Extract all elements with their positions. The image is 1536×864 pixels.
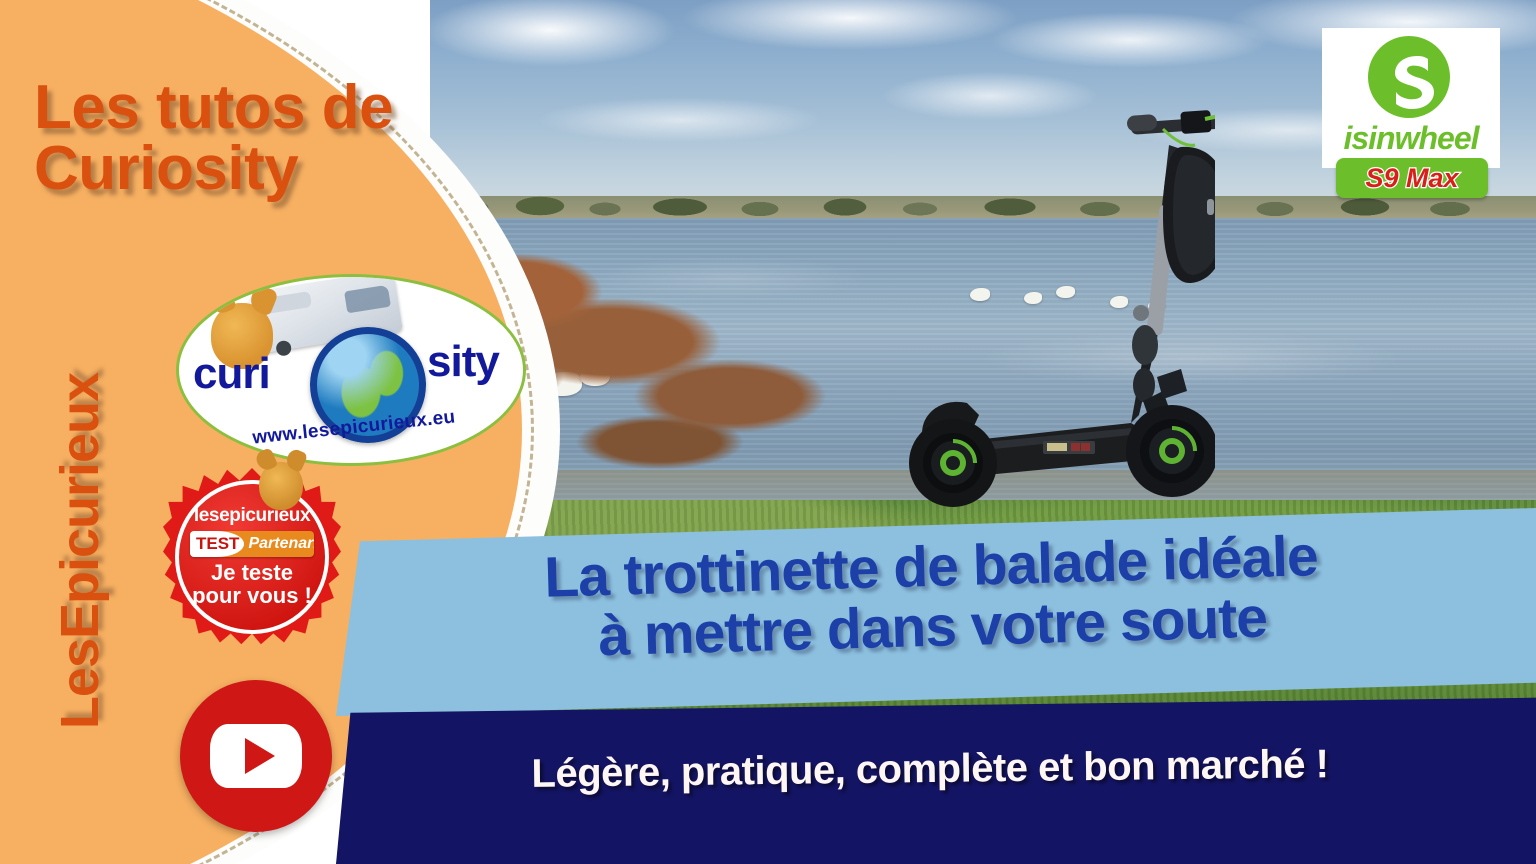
badge-slogan-line1: Je teste	[192, 562, 312, 584]
test-partner-badge: lesepicurieux TEST Partenariat Je teste …	[163, 468, 341, 646]
curiosity-logo-text-right: sity	[427, 337, 499, 387]
isinwheel-brand-name: isinwheel	[1322, 120, 1500, 157]
isinwheel-model-text: S9 Max	[1365, 163, 1458, 194]
play-triangle-icon	[245, 738, 275, 774]
isinwheel-mark-icon	[1366, 34, 1452, 120]
badge-slogan-line2: pour vous !	[192, 585, 312, 607]
badge-test-strip: TEST Partenariat	[190, 531, 314, 557]
thumbnail-canvas: Les tutos de Curiosity LesEpicurieux cur…	[0, 0, 1536, 864]
moose-mascot-icon	[259, 462, 303, 510]
channel-title: Les tutos de Curiosity	[34, 78, 464, 200]
vertical-brand-text: LesEpicurieux	[49, 271, 111, 831]
youtube-subscribe-button[interactable]	[180, 680, 332, 832]
channel-title-line1: Les tutos de	[34, 78, 464, 139]
youtube-icon	[210, 724, 302, 788]
electric-scooter	[895, 85, 1215, 510]
badge-disc: lesepicurieux TEST Partenariat Je teste …	[175, 480, 329, 634]
curiosity-logo: curi sity www.lesepicurieux.eu	[176, 274, 526, 466]
isinwheel-model-badge: S9 Max	[1336, 158, 1488, 198]
badge-slogan: Je teste pour vous !	[192, 562, 312, 607]
curiosity-logo-text-left: curi	[193, 349, 270, 399]
isinwheel-product-logo: isinwheel S9 Max	[1322, 28, 1500, 198]
badge-brand: lesepicurieux	[194, 505, 310, 527]
badge-test-label: TEST	[190, 531, 244, 557]
badge-partner-label: Partenariat	[244, 535, 314, 553]
channel-title-line2: Curiosity	[34, 139, 464, 200]
